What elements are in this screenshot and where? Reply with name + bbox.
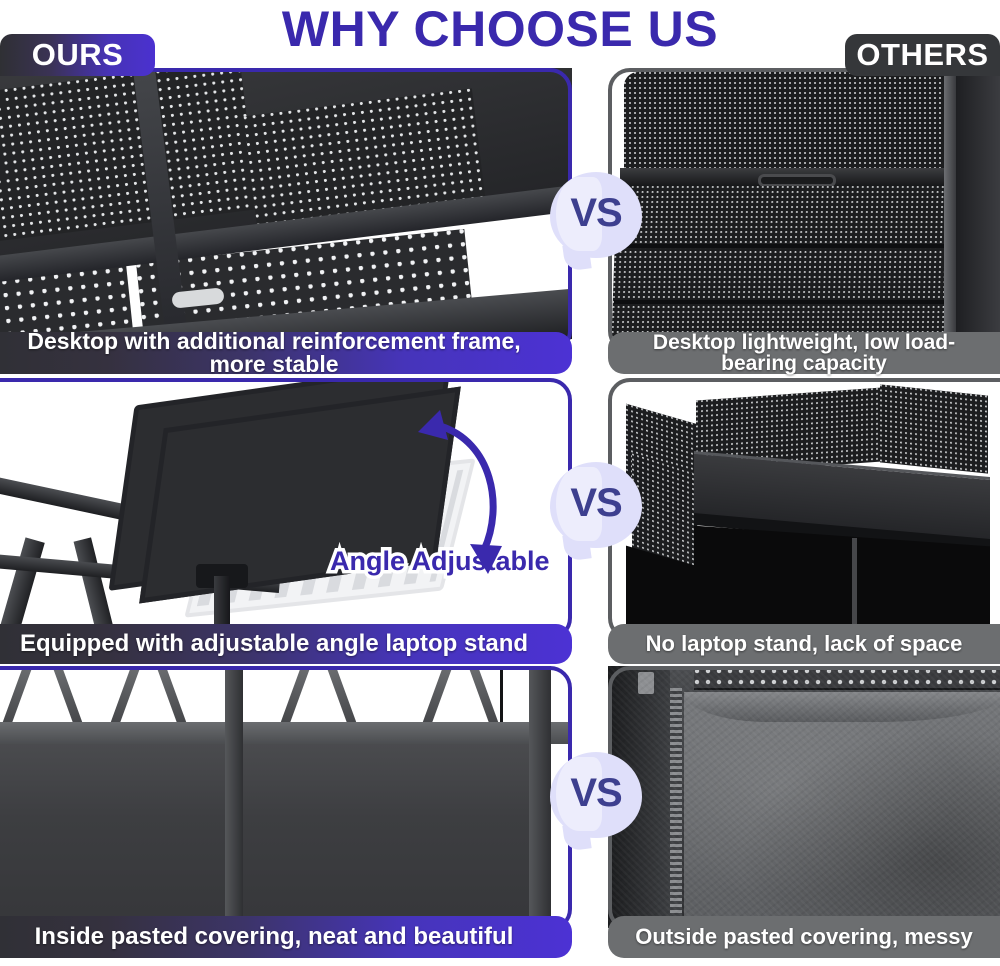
ours-caption-row-3: Inside pasted covering, neat and beautif… (0, 916, 572, 958)
vs-label: VS (550, 752, 642, 838)
ours-caption-row-2: Equipped with adjustable angle laptop st… (0, 624, 572, 664)
ours-image-row-3 (0, 666, 572, 928)
others-caption-row-1: Desktop lightweight, low load-bearing ca… (608, 332, 1000, 374)
tab-ours-label: OURS (32, 37, 124, 73)
vs-badge-row-2: VS (550, 462, 642, 548)
illustration-reinforced-desktop (0, 68, 572, 348)
ours-caption-row-1: Desktop with additional reinforcement fr… (0, 332, 572, 374)
others-image-row-2 (608, 378, 1000, 636)
page-title: WHY CHOOSE US (282, 4, 718, 54)
others-caption-row-3: Outside pasted covering, messy (608, 916, 1000, 958)
others-caption-row-2: No laptop stand, lack of space (608, 624, 1000, 664)
illustration-inside-covering (0, 666, 572, 928)
vs-badge-row-3: VS (550, 752, 642, 838)
illustration-lightweight-desktop (608, 68, 1000, 348)
vs-label: VS (550, 462, 642, 548)
others-image-row-1 (608, 68, 1000, 348)
illustration-no-laptop-stand (608, 378, 1000, 636)
tab-others-label: OTHERS (856, 37, 988, 73)
ours-image-row-1 (0, 68, 572, 348)
illustration-outside-covering (608, 666, 1000, 928)
tab-others: OTHERS (845, 34, 1000, 76)
others-image-row-3 (608, 666, 1000, 928)
vs-badge-row-1: VS (550, 172, 642, 258)
vs-label: VS (550, 172, 642, 258)
tab-ours: OURS (0, 34, 155, 76)
angle-adjustable-arrow-icon (400, 398, 560, 598)
